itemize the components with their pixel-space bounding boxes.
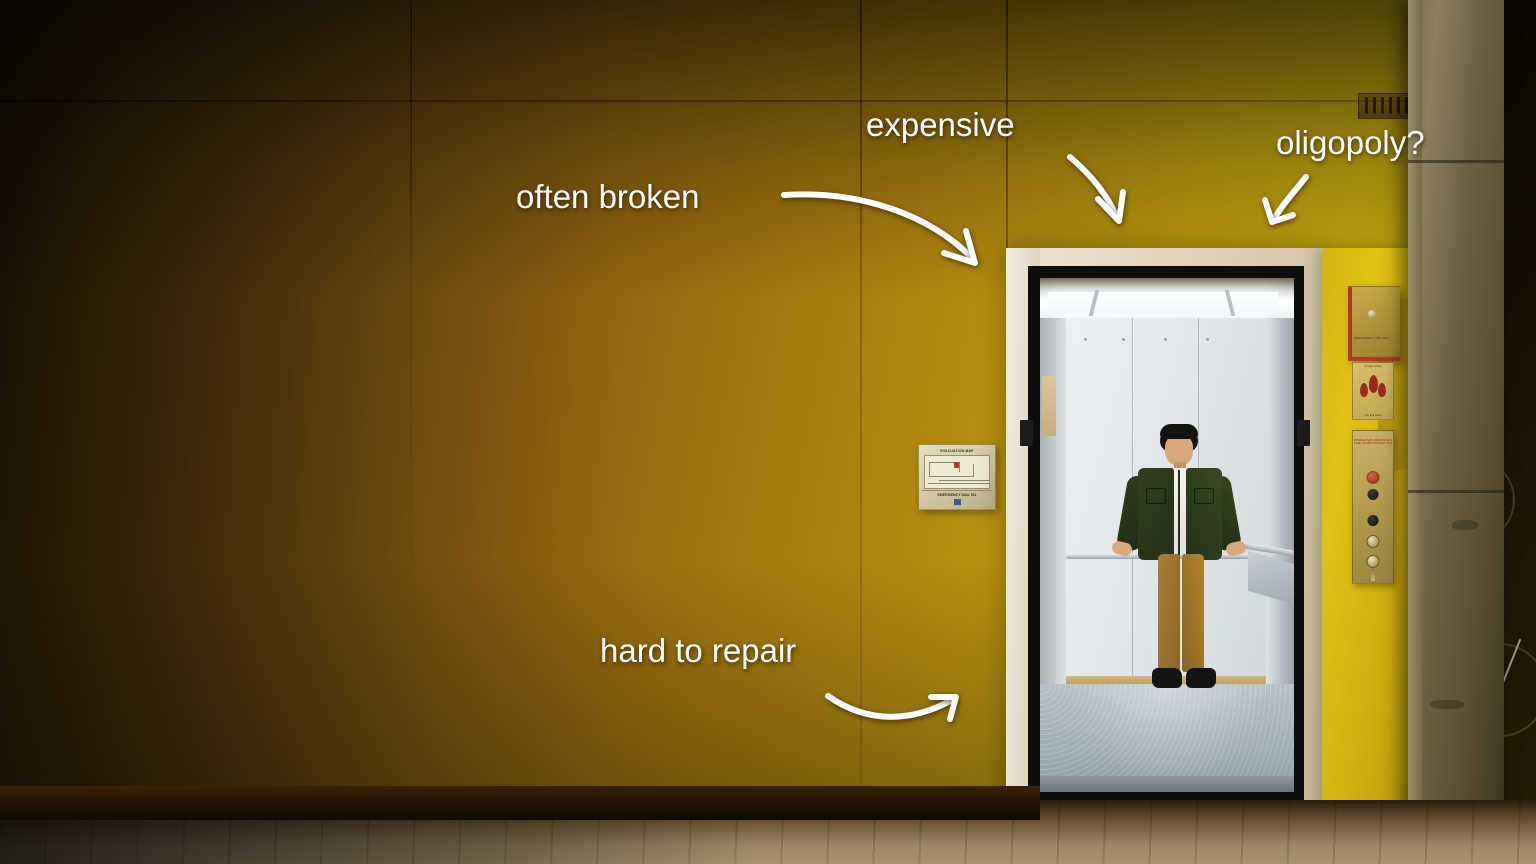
call-button-black-2[interactable] [1368, 515, 1379, 526]
annotation-expensive: expensive [866, 106, 1015, 144]
emergency-box[interactable] [1348, 286, 1400, 361]
evacuation-map-diagram [924, 455, 990, 489]
wall-seam-horizontal [0, 100, 1440, 102]
annotation-hard-to-repair: hard to repair [600, 632, 796, 670]
fire-sign-top-text: In Case Of Fire [1353, 363, 1393, 368]
annotation-oligopoly: oligopoly? [1276, 124, 1425, 162]
call-button-alarm[interactable] [1367, 471, 1380, 484]
accessibility-icon [954, 499, 961, 505]
firefighter-keyswitch[interactable] [1371, 569, 1375, 581]
call-panel-caption: FIREFIGHTERS OPERATION IN CASE OF FIRE P… [1353, 439, 1393, 446]
call-button-brass-1[interactable] [1367, 535, 1380, 548]
call-button-brass-2[interactable] [1367, 555, 1380, 568]
cab-ceiling-light [1048, 292, 1278, 314]
thumbnail-canvas: EVACUATION MAP EMERGENCY DIAL 911 [0, 0, 1536, 864]
cab-wall-right [1266, 318, 1294, 698]
emergency-box-label: EMERGENCY USE ONLY [1351, 336, 1393, 340]
person-shrugging [1108, 424, 1248, 714]
fire-sign-bottom-text: Use Exit Stairs [1353, 414, 1393, 417]
cab-inspection-placard [1042, 376, 1056, 436]
call-button-black-1[interactable] [1368, 489, 1379, 500]
jamb-plaque-left [1020, 420, 1033, 446]
cab-wall-left [1040, 318, 1068, 698]
evacuation-map-sign: EVACUATION MAP EMERGENCY DIAL 911 [918, 444, 996, 510]
you-are-here-marker [954, 462, 959, 468]
evacuation-map-title: EVACUATION MAP [922, 448, 992, 454]
elevator-call-panel[interactable]: FIREFIGHTERS OPERATION IN CASE OF FIRE P… [1352, 430, 1394, 584]
wall-seam-vertical-mid [860, 0, 862, 812]
elevator-threshold [1040, 776, 1294, 792]
fire-safety-sign: In Case Of Fire Use Exit Stairs [1352, 362, 1394, 420]
emergency-box-latch-icon [1368, 310, 1376, 318]
pillar-seam-mid [1408, 490, 1504, 493]
wall-seam-vertical-left [410, 0, 412, 812]
annotation-often-broken: often broken [516, 178, 699, 216]
wall-baseboard [0, 786, 1040, 820]
jamb-plaque-right [1297, 420, 1310, 446]
evacuation-map-footer: EMERGENCY DIAL 911 [922, 490, 992, 497]
